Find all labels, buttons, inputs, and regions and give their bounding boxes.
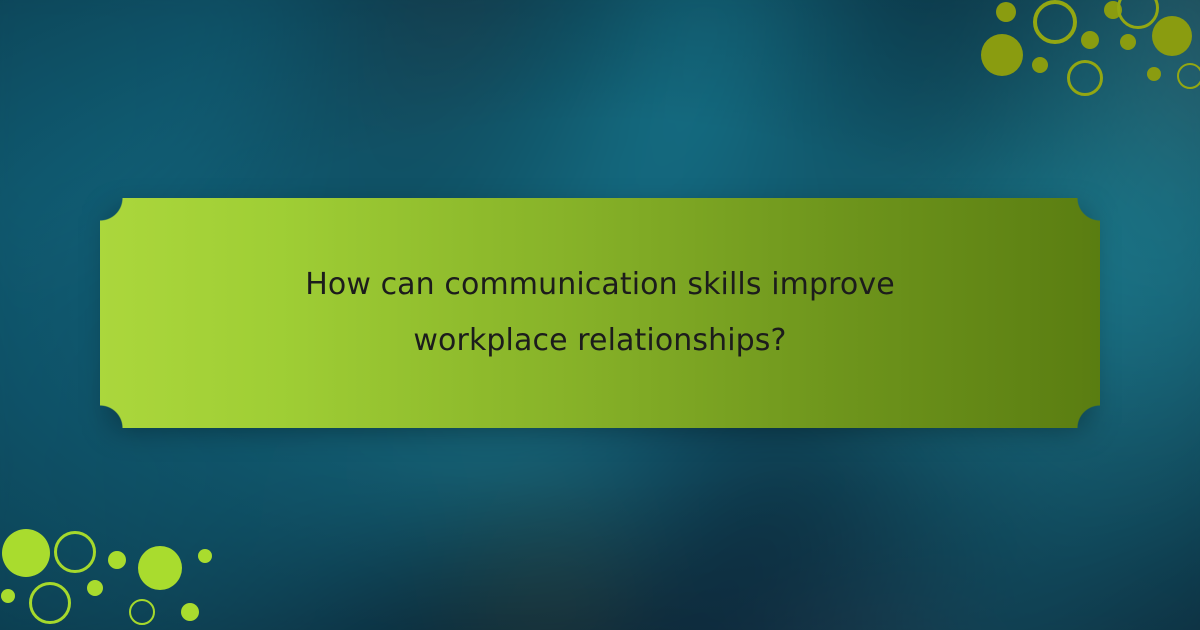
decor-dot-ring [1033,0,1077,44]
question-text: How can communication skills improve wor… [240,257,960,369]
decor-dot-filled [87,580,103,596]
decor-dot-filled [996,2,1016,22]
social-card-canvas: How can communication skills improve wor… [0,0,1200,630]
decor-dot-filled [1,589,15,603]
decor-dot-filled [181,603,199,621]
decor-dot-ring [129,599,155,625]
question-card: How can communication skills improve wor… [100,198,1100,428]
decor-dot-filled [1147,67,1161,81]
decor-dot-ring [1067,60,1103,96]
decor-dot-filled [198,549,212,563]
decor-dot-filled [2,529,50,577]
decor-dot-filled [1120,34,1136,50]
decor-dot-filled [1081,31,1099,49]
decor-dot-ring [54,531,96,573]
decor-dot-filled [1152,16,1192,56]
decor-dot-ring [29,582,71,624]
decor-dot-filled [1032,57,1048,73]
decor-dot-filled [108,551,126,569]
decor-dot-ring [1177,63,1200,89]
decor-dot-filled [138,546,182,590]
decor-dot-filled [981,34,1023,76]
